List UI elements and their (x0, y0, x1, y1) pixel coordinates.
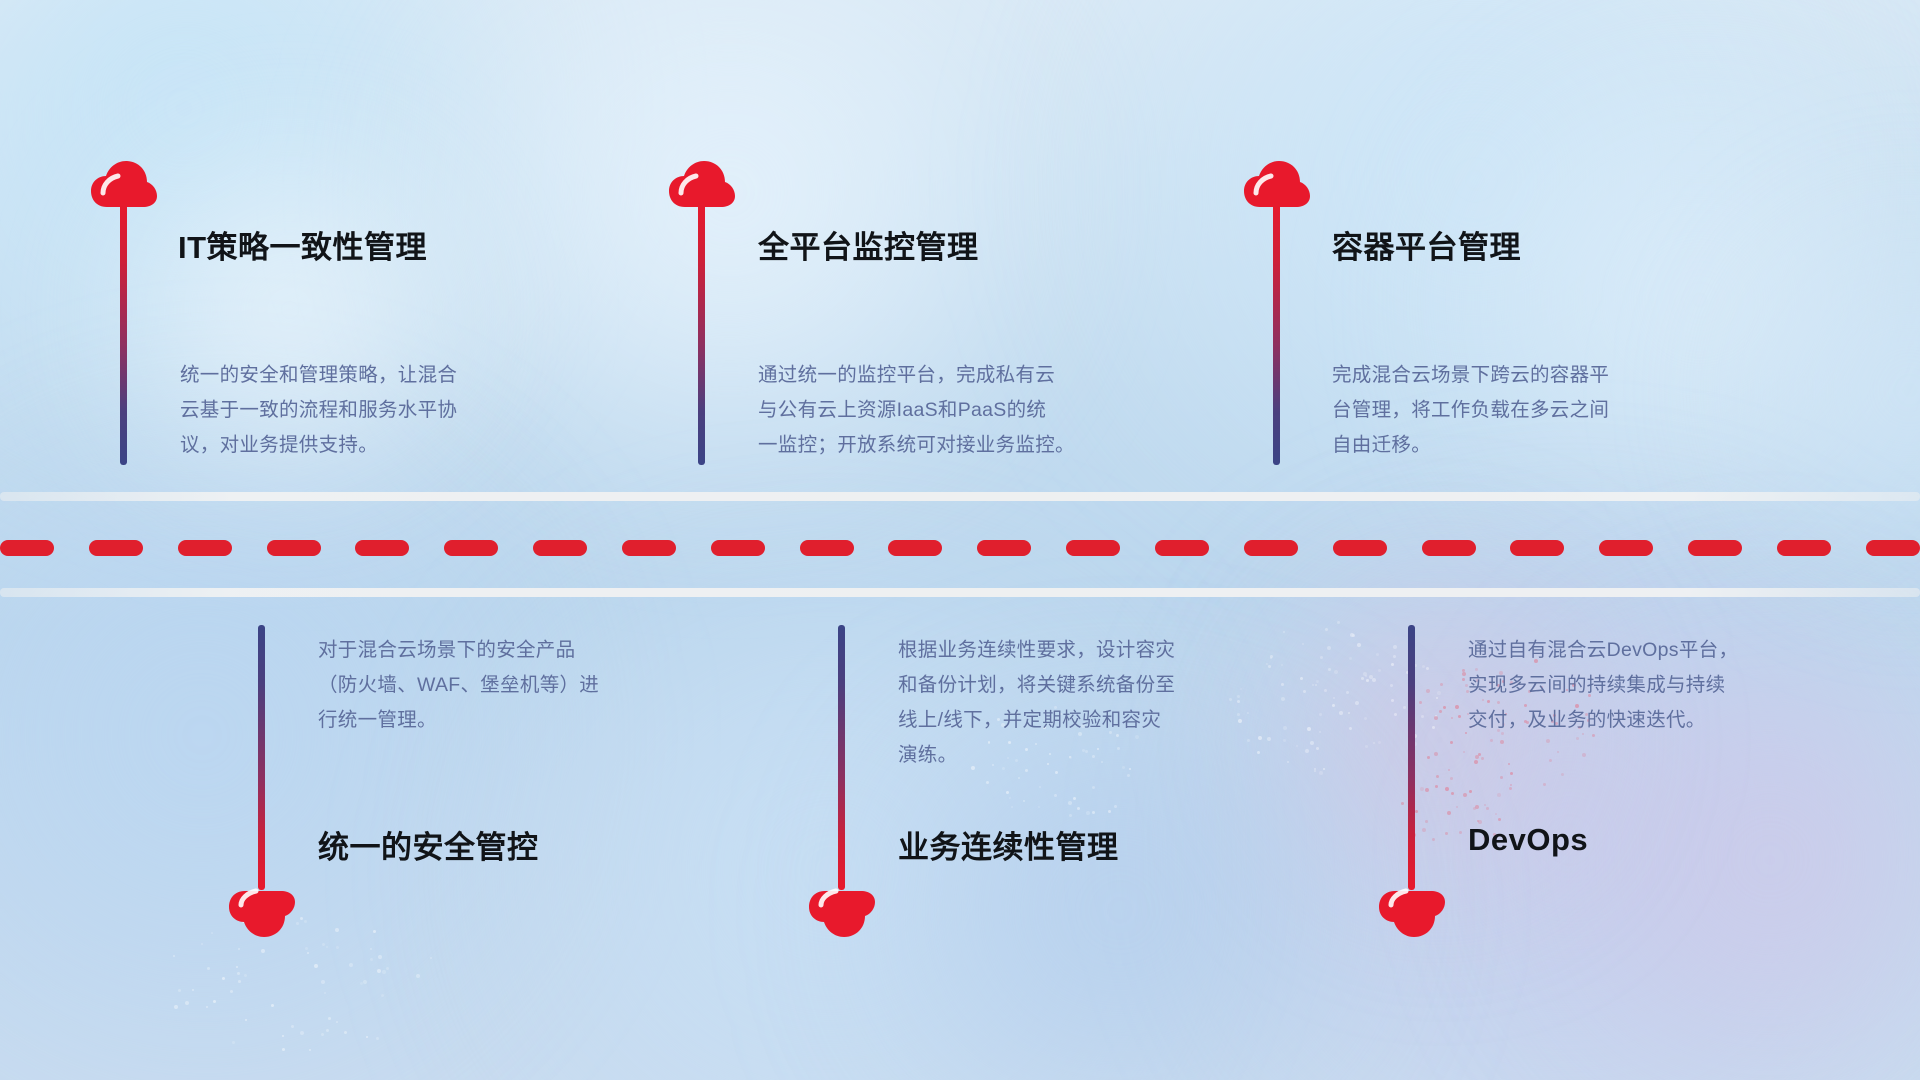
item-heading: 容器平台管理 (1332, 222, 1521, 267)
road-dash (267, 540, 321, 556)
road-dash (800, 540, 854, 556)
road-dash (89, 540, 143, 556)
desc-line: 实现多云间的持续集成与持续 (1468, 668, 1898, 703)
stem-line (838, 625, 845, 890)
desc-line: 通过统一的监控平台，完成私有云 (758, 358, 1228, 393)
road-dash (1599, 540, 1653, 556)
item-description: 统一的安全和管理策略，让混合 云基于一致的流程和服务水平协 议，对业务提供支持。 (180, 358, 620, 463)
road-dash (1333, 540, 1387, 556)
stem-line (698, 200, 705, 465)
desc-line: 交付，及业务的快速迭代。 (1468, 703, 1898, 738)
road-dash (178, 540, 232, 556)
cloud-pin-icon (808, 888, 876, 938)
road-dashed-centerline (0, 540, 1920, 556)
item-description: 根据业务连续性要求，设计容灾 和备份计划，将关键系统备份至 线上/线下，并定期校… (898, 633, 1318, 773)
stem-line (258, 625, 265, 890)
desc-line: 一监控；开放系统可对接业务监控。 (758, 428, 1228, 463)
road-dash (0, 540, 54, 556)
desc-line: 通过自有混合云DevOps平台， (1468, 633, 1898, 668)
item-description: 对于混合云场景下的安全产品 （防火墙、WAF、堡垒机等）进 行统一管理。 (318, 633, 738, 738)
stem-line (120, 200, 127, 465)
item-description: 通过自有混合云DevOps平台， 实现多云间的持续集成与持续 交付，及业务的快速… (1468, 633, 1898, 738)
item-heading: DevOps (1468, 822, 1588, 858)
desc-line: 完成混合云场景下跨云的容器平 (1332, 358, 1772, 393)
road-dash (622, 540, 676, 556)
desc-line: 线上/线下，并定期校验和容灾 (898, 703, 1318, 738)
stem-line (1273, 200, 1280, 465)
desc-line: （防火墙、WAF、堡垒机等）进 (318, 668, 738, 703)
desc-line: 与公有云上资源IaaS和PaaS的统 (758, 393, 1228, 428)
desc-line: 云基于一致的流程和服务水平协 (180, 393, 620, 428)
road-dash (1244, 540, 1298, 556)
desc-line: 统一的安全和管理策略，让混合 (180, 358, 620, 393)
road-edge-top (0, 492, 1920, 501)
item-heading: IT策略一致性管理 (178, 222, 427, 267)
desc-line: 自由迁移。 (1332, 428, 1772, 463)
item-description: 完成混合云场景下跨云的容器平 台管理，将工作负载在多云之间 自由迁移。 (1332, 358, 1772, 463)
cloud-pin-icon (1378, 888, 1446, 938)
road-dash (711, 540, 765, 556)
road-dash (888, 540, 942, 556)
road-dash (1688, 540, 1742, 556)
desc-line: 行统一管理。 (318, 703, 738, 738)
road-dash (977, 540, 1031, 556)
road-edge-bottom (0, 588, 1920, 597)
item-heading: 全平台监控管理 (758, 222, 979, 267)
desc-line: 演练。 (898, 738, 1318, 773)
cloud-pin-icon (228, 888, 296, 938)
road-dash (1155, 540, 1209, 556)
road-dash (1066, 540, 1120, 556)
desc-line: 议，对业务提供支持。 (180, 428, 620, 463)
infographic-stage: IT策略一致性管理 统一的安全和管理策略，让混合 云基于一致的流程和服务水平协 … (0, 0, 1920, 1080)
road-dash (1777, 540, 1831, 556)
road-dash (355, 540, 409, 556)
road-dash (1866, 540, 1920, 556)
desc-line: 对于混合云场景下的安全产品 (318, 633, 738, 668)
road-dash (533, 540, 587, 556)
desc-line: 根据业务连续性要求，设计容灾 (898, 633, 1318, 668)
road-dash (1510, 540, 1564, 556)
item-heading: 业务连续性管理 (898, 822, 1119, 867)
desc-line: 和备份计划，将关键系统备份至 (898, 668, 1318, 703)
road-dash (444, 540, 498, 556)
desc-line: 台管理，将工作负载在多云之间 (1332, 393, 1772, 428)
stem-line (1408, 625, 1415, 890)
road-dash (1422, 540, 1476, 556)
item-heading: 统一的安全管控 (318, 822, 539, 867)
item-description: 通过统一的监控平台，完成私有云 与公有云上资源IaaS和PaaS的统 一监控；开… (758, 358, 1228, 463)
